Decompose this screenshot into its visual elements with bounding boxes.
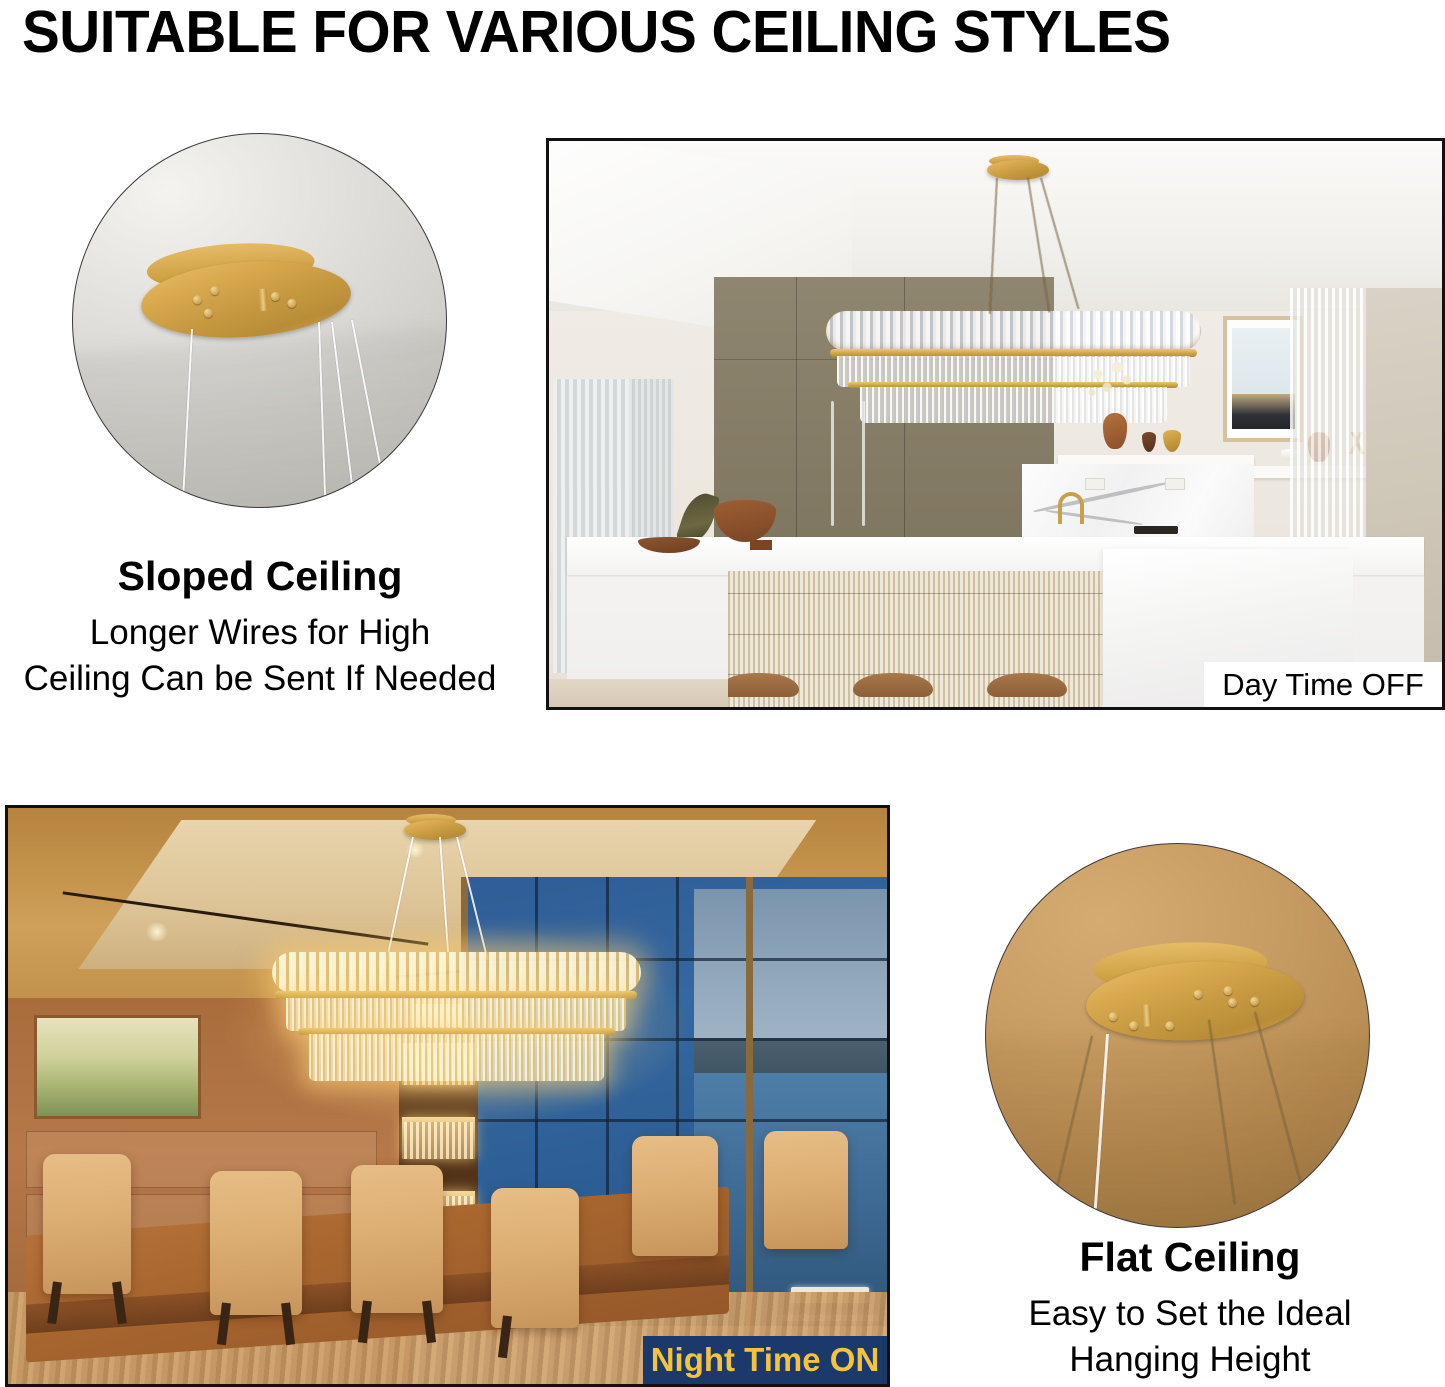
flat-ceiling-caption: Flat Ceiling Easy to Set the Ideal Hangi… (955, 1233, 1425, 1383)
flat-subline-2: Hanging Height (955, 1337, 1425, 1383)
chandelier-crystal-rods-upper (286, 998, 626, 1031)
bar-stool (987, 673, 1067, 697)
ceiling-shading (985, 1036, 1370, 1229)
dining-chair (210, 1171, 302, 1315)
flat-subline-1: Easy to Set the Ideal (955, 1291, 1425, 1337)
dried-flowers (1080, 356, 1140, 408)
sloped-subline-2: Ceiling Can be Sent If Needed (10, 656, 510, 702)
day-kitchen-photo: Day Time OFF (546, 138, 1445, 710)
flat-ceiling-photo (985, 843, 1370, 1228)
dining-chair (491, 1188, 579, 1328)
bar-stool (853, 673, 933, 697)
sloped-ceiling-caption: Sloped Ceiling Longer Wires for High Cei… (10, 552, 510, 702)
day-time-badge-label: Day Time OFF (1222, 667, 1424, 703)
cabinet-seam (796, 277, 797, 571)
gold-faucet (1058, 492, 1084, 524)
dining-chair (764, 1131, 848, 1249)
chandelier-top-tier (826, 311, 1201, 351)
landscape-painting (34, 1015, 201, 1119)
crystal-chandelier-on (272, 952, 641, 1090)
ceramic-vase (1103, 413, 1127, 449)
sloped-subline-1: Longer Wires for High (10, 610, 510, 656)
sloped-ceiling-photo (72, 133, 447, 508)
artwork-landscape (1232, 394, 1295, 429)
ceiling-shading (72, 323, 447, 508)
kitchen-floor (549, 679, 728, 707)
bar-stool (719, 673, 799, 697)
crystal-chandelier-off (826, 311, 1201, 430)
dining-chair (632, 1136, 718, 1256)
recessed-spotlight (404, 843, 426, 857)
flat-heading: Flat Ceiling (955, 1233, 1425, 1281)
canopy-stem (1142, 1004, 1151, 1026)
night-time-badge-label: Night Time ON (651, 1341, 880, 1379)
night-time-badge: Night Time ON (643, 1336, 887, 1384)
wall-outlet (1165, 478, 1185, 490)
dining-chair (351, 1165, 443, 1313)
night-dining-photo: Night Time ON (5, 805, 890, 1387)
page-title: SUITABLE FOR VARIOUS CEILING STYLES (22, 0, 1376, 64)
day-time-badge: Day Time OFF (1204, 662, 1442, 707)
canopy-plate-sloped (139, 255, 354, 344)
canopy-plate-flat (1084, 956, 1306, 1045)
gas-cooktop (1134, 526, 1178, 534)
sloped-heading: Sloped Ceiling (10, 552, 510, 600)
chandelier-crystal-rods-lower (309, 1034, 604, 1081)
artwork-sky (1232, 328, 1295, 396)
canopy-stem (258, 289, 268, 312)
chandelier-top-tier (272, 952, 641, 993)
window-frame-post (746, 877, 753, 1326)
dining-chair (43, 1154, 131, 1294)
wooden-bowl-foot (750, 540, 772, 550)
wall-outlet (1085, 478, 1105, 490)
